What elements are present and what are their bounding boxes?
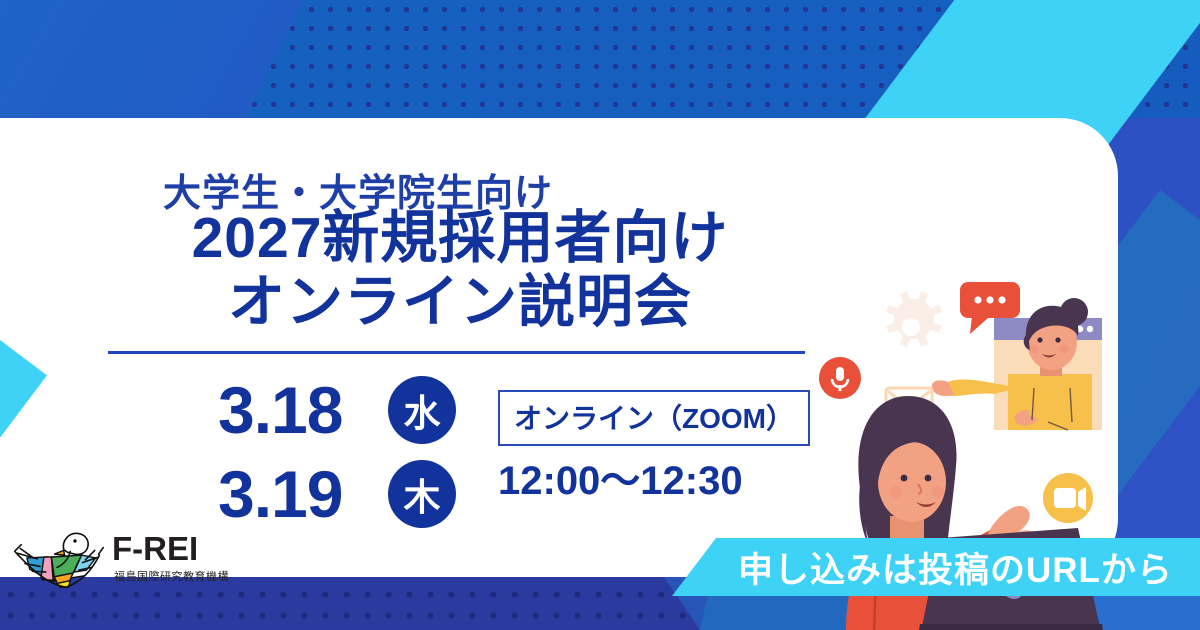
- logo-subtitle: 福島国際研究教育機構: [114, 568, 229, 584]
- page-title: 2027新規採用者向け オンライン説明会: [80, 206, 840, 335]
- time-text: 12:00〜12:30: [498, 448, 743, 506]
- weekday-badge: 木: [388, 460, 456, 528]
- video-camera-icon: [1043, 473, 1093, 523]
- card-content: 大学生・大学院生向け 2027新規採用者向け オンライン説明会 3.18 水 3…: [0, 118, 1118, 577]
- gear-icon: [886, 291, 942, 347]
- venue-badge: オンライン（ZOOM）: [498, 390, 810, 446]
- weekday-badge: 水: [388, 376, 456, 444]
- frei-logo: F-REI 福島国際研究教育機構: [8, 524, 248, 594]
- title-line-2: オンライン説明会: [80, 270, 840, 334]
- date-number: 3.18: [218, 368, 342, 452]
- nest-bird-logo-icon: [8, 524, 108, 590]
- microphone-icon: [819, 357, 861, 399]
- poster-canvas: 大学生・大学院生向け 2027新規採用者向け オンライン説明会 3.18 水 3…: [0, 0, 1200, 630]
- logo-wordmark: F-REI: [112, 530, 198, 568]
- title-line-1: 2027新規採用者向け: [80, 206, 840, 270]
- divider-line: [108, 351, 805, 354]
- cta-label: 申し込みは投稿のURLから: [738, 542, 1173, 593]
- cta-ribbon[interactable]: 申し込みは投稿のURLから: [672, 538, 1200, 596]
